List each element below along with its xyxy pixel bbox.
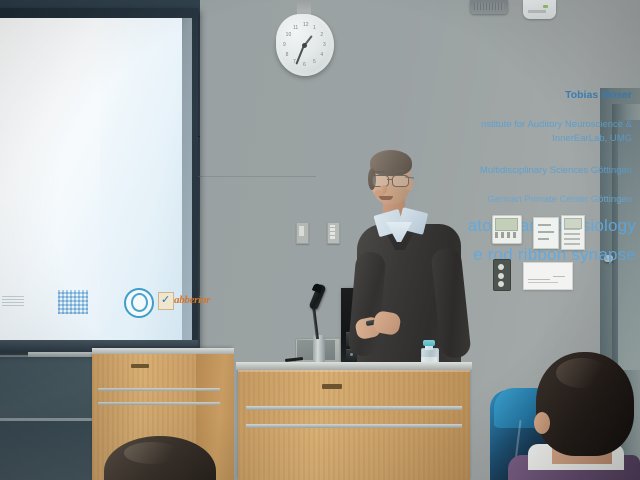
slide-affiliation-1-line1: nstitute for Auditory Neuroscience & (481, 119, 632, 130)
presenter-eyebrow-right (392, 170, 404, 172)
clock-numeral: 5 (313, 59, 316, 65)
thermostat-buttons[interactable] (495, 232, 516, 238)
clock-numeral: 12 (303, 22, 309, 28)
av-panel-lcd-icon (564, 218, 582, 229)
podium-groove (98, 402, 220, 405)
outlet-socket (498, 273, 504, 279)
panel-line (553, 276, 565, 277)
secondary-podium-top (92, 348, 234, 354)
rack-led (350, 353, 353, 356)
clock-numeral: 9 (283, 42, 286, 48)
panel-line (528, 279, 550, 280)
clock-center-pin (302, 43, 307, 48)
sensor-label (528, 10, 546, 13)
outlet-socket (498, 281, 504, 287)
switch-rocker (299, 226, 304, 236)
light-switch-panel[interactable] (533, 217, 559, 249)
lecture-hall-photo: 121234567891011 Tobias Moser nstitute fo… (0, 0, 640, 480)
slide-affiliation-1-line2: InnerEarLab, UMG (552, 133, 632, 144)
presenter-mouth (379, 196, 393, 200)
presenter-nose (380, 185, 387, 194)
sensor-led (543, 5, 548, 8)
av-panel-keys[interactable] (564, 229, 580, 245)
main-podium-top (236, 362, 472, 370)
circle-emblem-inner (131, 293, 148, 312)
audience-hair-highlight (556, 358, 608, 388)
podium-groove (246, 406, 462, 410)
slide-author: Tobias Moser (565, 89, 632, 101)
clock-numeral: 6 (303, 62, 306, 68)
abberior-check-icon: ✓ (161, 295, 170, 306)
podium-cable-slot (322, 384, 342, 389)
clock-numeral: 1 (313, 25, 316, 31)
clock-numeral: 4 (320, 52, 323, 58)
presenter-eyebrow-left (373, 171, 385, 173)
panel-line (538, 224, 551, 226)
clock-numeral: 2 (320, 32, 323, 38)
thermostat-lcd-icon (495, 218, 518, 231)
audience-hair-highlight (124, 442, 180, 464)
clock-numeral: 11 (293, 25, 298, 31)
abberior-logo-text: abberior (174, 294, 210, 306)
microphone-stand-base (313, 335, 325, 365)
clock-numeral: 8 (286, 52, 289, 58)
podium-groove (98, 388, 220, 391)
bottle-cap[interactable] (423, 340, 435, 346)
wall-connection-panel[interactable] (523, 262, 573, 290)
panel-line (538, 231, 554, 233)
glasses-bridge (387, 179, 392, 180)
lines-logo-icon (2, 296, 24, 306)
panel-line (528, 282, 558, 283)
podium-cable-slot (131, 364, 149, 368)
speaker-grill (474, 3, 504, 10)
clock-numeral: 10 (286, 32, 292, 38)
switch-rocker (330, 225, 335, 239)
slide-affiliation-2: Multidisciplinary Sciences Göttingen (480, 165, 632, 176)
outlet-socket (498, 264, 504, 270)
dot-grid-logo-icon (58, 290, 88, 314)
audience-ear (534, 412, 550, 434)
panel-line (538, 238, 549, 240)
wall-seam (196, 176, 316, 177)
podium-groove (246, 424, 462, 428)
clock-face (276, 14, 324, 66)
slide-affiliation-3: German Primate Center Göttingen (487, 194, 632, 205)
clock-numeral: 3 (323, 42, 326, 48)
